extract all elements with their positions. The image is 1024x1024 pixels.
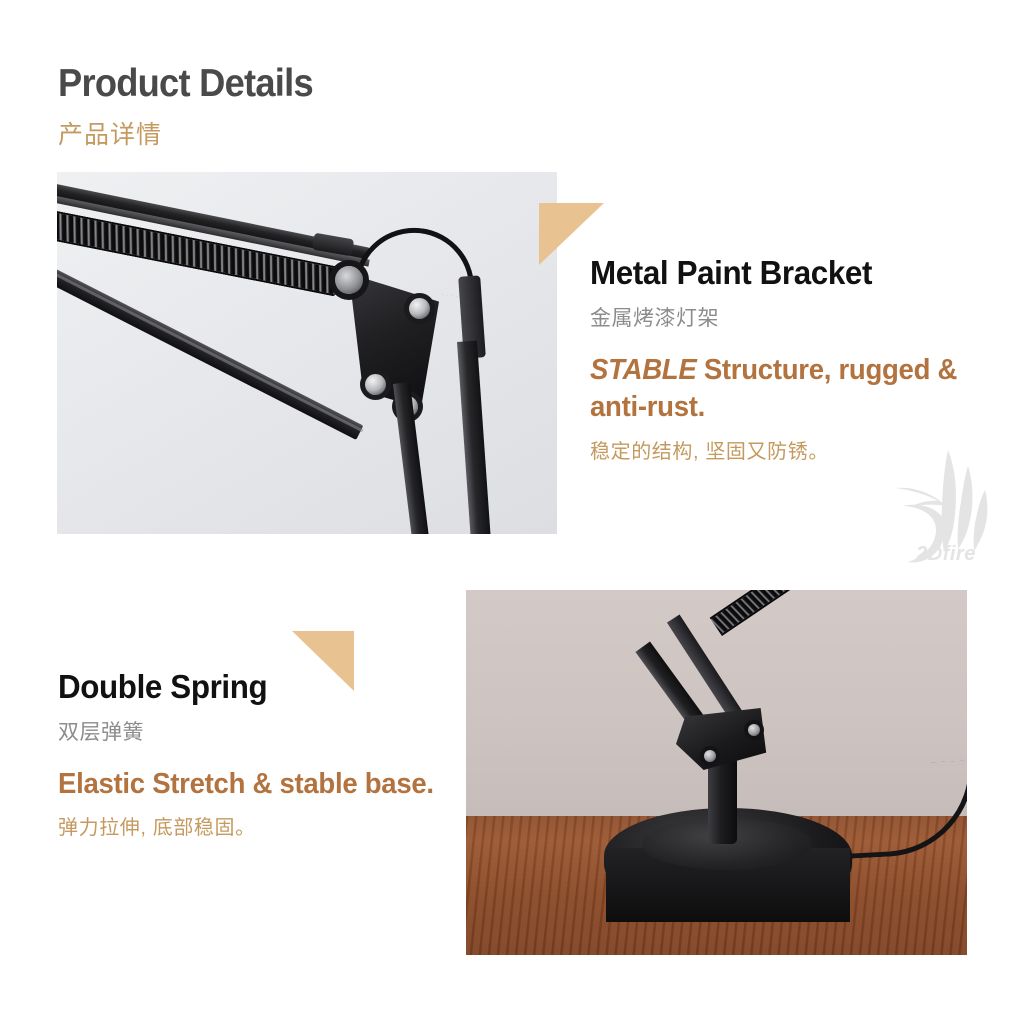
lamp-base-photo xyxy=(466,590,967,955)
feature-heading-cn: 金属烤漆灯架 xyxy=(590,302,990,332)
feature-block-spring: Double Spring 双层弹簧 Elastic Stretch & sta… xyxy=(58,669,458,840)
joint-screw xyxy=(704,750,716,762)
feature-heading-en: Metal Paint Bracket xyxy=(590,255,970,291)
hinge-screw xyxy=(409,298,430,319)
feature-heading-cn: 双层弹簧 xyxy=(58,716,458,746)
feature-block-bracket: Metal Paint Bracket 金属烤漆灯架 STABLE Struct… xyxy=(590,255,990,464)
feature-description-en: STABLE Structure, rugged & anti-rust. xyxy=(590,352,970,427)
product-details-page: Product Details 产品详情 Metal Paint Bracket… xyxy=(0,0,1024,1024)
bracket-hinge-photo xyxy=(57,172,557,534)
pivot-bolt xyxy=(335,266,363,294)
page-title: Product Details xyxy=(58,62,313,106)
joint-screw xyxy=(748,724,760,736)
hinge-screw xyxy=(365,374,386,395)
feature-description-cn: 弹力拉伸, 底部稳固。 xyxy=(58,811,458,840)
feature-heading-en: Double Spring xyxy=(58,669,438,705)
page-subtitle-cn: 产品详情 xyxy=(58,115,162,151)
brand-watermark-text: 2Dfire xyxy=(886,543,1006,566)
feature-description-en: Elastic Stretch & stable base. xyxy=(58,766,438,804)
emphasis-word: STABLE xyxy=(590,354,696,386)
